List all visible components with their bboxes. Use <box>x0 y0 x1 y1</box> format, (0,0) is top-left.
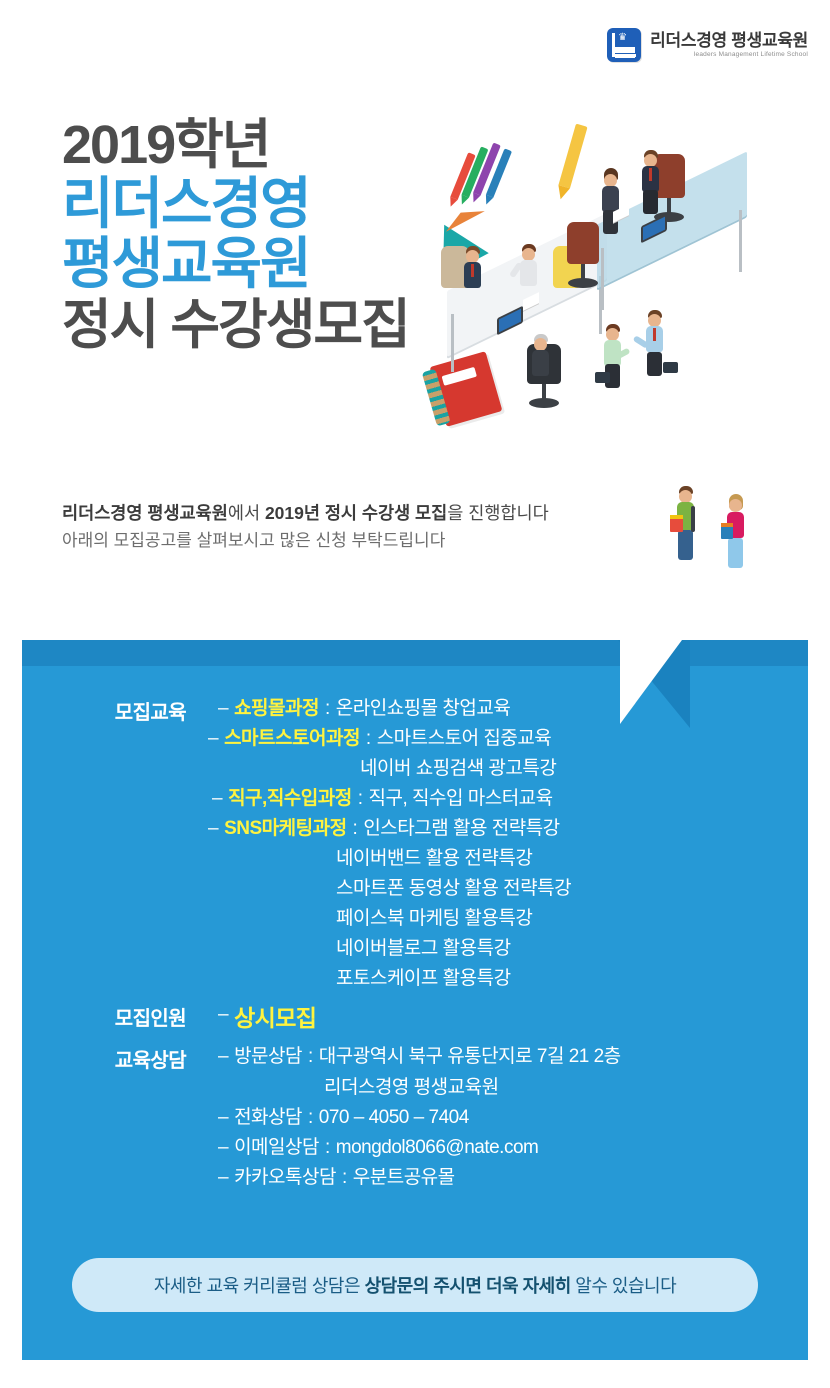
dash-marker: – <box>218 1042 228 1072</box>
leaders-crown-logo-icon: ♛ <box>607 28 641 62</box>
dash-marker: – <box>218 694 228 724</box>
contact-label: 이메일상담 <box>234 1133 319 1163</box>
course-subitem: 스마트폰 동영상 활용 전략특강 <box>208 874 808 904</box>
intro-tail: 을 진행합니다 <box>447 503 548 523</box>
info-row-quota: 모집인원 – 상시모집 <box>22 1000 808 1036</box>
course-desc: 스마트스토어 집중교육 <box>377 724 552 754</box>
contact-item-email[interactable]: – 이메일상담 : mongdol8066@nate.com <box>208 1133 808 1163</box>
course-item: – SNS마케팅과정 : 인스타그램 활용 전략특강 <box>208 814 808 844</box>
colon: : <box>325 1133 330 1163</box>
course-item: – 직구,직수입과정 : 직구, 직수입 마스터교육 <box>208 784 808 814</box>
course-name: 쇼핑몰과정 <box>234 694 319 724</box>
course-item: – 쇼핑몰과정 : 온라인쇼핑몰 창업교육 <box>208 694 808 724</box>
dash-marker: – <box>218 1133 228 1163</box>
colon: : <box>342 1163 347 1193</box>
course-subitem: 네이버블로그 활용특강 <box>208 934 808 964</box>
dash-marker: – <box>218 1103 228 1133</box>
course-name: 스마트스토어과정 <box>224 724 360 754</box>
row-label-courses: 모집교육 <box>22 694 208 725</box>
info-panel: 모집교육 – 쇼핑몰과정 : 온라인쇼핑몰 창업교육 – 스마트스토어과정 : … <box>22 640 808 1360</box>
colon: : <box>353 814 358 844</box>
info-row-contact: 교육상담 – 방문상담 : 대구광역시 북구 유통단지로 7길 21 2층 리더… <box>22 1042 808 1192</box>
contact-email[interactable]: mongdol8066@nate.com <box>336 1133 539 1163</box>
brand-text: 리더스경영 평생교육원 leaders Management Lifetime … <box>650 32 808 59</box>
course-desc: 직구, 직수입 마스터교육 <box>369 784 553 814</box>
contact-label: 전화상담 <box>234 1103 302 1133</box>
pencil-icon <box>558 124 587 189</box>
contact-list: – 방문상담 : 대구광역시 북구 유통단지로 7길 21 2층 리더스경영 평… <box>208 1042 808 1192</box>
dash-marker: – <box>208 724 218 754</box>
contact-label: 카카오톡상담 <box>234 1163 336 1193</box>
intro-line-1: 리더스경영 평생교육원에서 2019년 정시 수강생 모집을 진행합니다 <box>62 500 549 528</box>
dash-marker: – <box>212 784 222 814</box>
colon: : <box>308 1103 313 1133</box>
contact-item-visit: – 방문상담 : 대구광역시 북구 유통단지로 7길 21 2층 <box>208 1042 808 1072</box>
colon: : <box>366 724 371 754</box>
consult-text-c: 알수 있습니다 <box>571 1276 676 1296</box>
dash-marker: – <box>218 1000 228 1036</box>
students-illustration <box>672 484 782 599</box>
course-name: 직구,직수입과정 <box>228 784 352 814</box>
title-line-brand-1: 리더스경영 <box>62 176 409 232</box>
quota-body: – 상시모집 <box>208 1000 808 1036</box>
title-line-brand-2: 평생교육원 <box>62 236 409 292</box>
consult-text-a: 자세한 교육 커리큘럼 상담은 <box>154 1276 365 1296</box>
course-name: SNS마케팅과정 <box>224 814 346 844</box>
course-desc: 온라인쇼핑몰 창업교육 <box>336 694 511 724</box>
notebook-icon <box>430 351 503 427</box>
title-line-year: 2019학년 <box>62 118 409 172</box>
intro-bold-brand: 리더스경영 평생교육원 <box>62 503 228 523</box>
courses-list: – 쇼핑몰과정 : 온라인쇼핑몰 창업교육 – 스마트스토어과정 : 스마트스토… <box>208 694 808 994</box>
row-label-contact: 교육상담 <box>22 1042 208 1073</box>
brand-name-en: leaders Management Lifetime School <box>650 52 808 59</box>
header-logo: ♛ 리더스경영 평생교육원 leaders Management Lifetim… <box>607 28 808 62</box>
info-row-courses: 모집교육 – 쇼핑몰과정 : 온라인쇼핑몰 창업교육 – 스마트스토어과정 : … <box>22 694 808 994</box>
contact-phone[interactable]: 070 – 4050 – 7404 <box>319 1103 469 1133</box>
contact-item-kakao[interactable]: – 카카오톡상담 : 우분트공유몰 <box>208 1163 808 1193</box>
contact-address: 대구광역시 북구 유통단지로 7길 21 2층 <box>319 1042 621 1072</box>
consult-text-bold: 상담문의 주시면 더욱 자세히 <box>365 1276 571 1296</box>
dash-marker: – <box>208 814 218 844</box>
course-subitem: 포토스케이프 활용특강 <box>208 964 808 994</box>
contact-item-phone[interactable]: – 전화상담 : 070 – 4050 – 7404 <box>208 1103 808 1133</box>
intro-bold-recruit: 2019년 정시 수강생 모집 <box>265 503 447 523</box>
consult-banner[interactable]: 자세한 교육 커리큘럼 상담은 상담문의 주시면 더욱 자세히 알수 있습니다 <box>72 1258 758 1312</box>
intro-mid: 에서 <box>228 503 265 523</box>
contact-label: 방문상담 <box>234 1042 302 1072</box>
contact-kakao[interactable]: 우분트공유몰 <box>353 1163 455 1193</box>
quota-value: 상시모집 <box>234 1000 316 1036</box>
quota-item: – 상시모집 <box>208 1000 808 1036</box>
contact-address-line2: 리더스경영 평생교육원 <box>208 1073 808 1103</box>
course-item: – 스마트스토어과정 : 스마트스토어 집중교육 <box>208 724 808 754</box>
info-rows: 모집교육 – 쇼핑몰과정 : 온라인쇼핑몰 창업교육 – 스마트스토어과정 : … <box>22 694 808 1193</box>
course-subitem: 페이스북 마케팅 활용특강 <box>208 904 808 934</box>
dash-marker: – <box>218 1163 228 1193</box>
row-label-quota: 모집인원 <box>22 1000 208 1031</box>
colon: : <box>358 784 363 814</box>
course-subitem: 네이버밴드 활용 전략특강 <box>208 844 808 874</box>
title-line-recruit: 정시 수강생모집 <box>62 298 409 352</box>
intro-line-2: 아래의 모집공고를 살펴보시고 많은 신청 부탁드립니다 <box>62 528 549 555</box>
business-illustration <box>415 130 815 450</box>
intro-paragraph: 리더스경영 평생교육원에서 2019년 정시 수강생 모집을 진행합니다 아래의… <box>62 500 549 555</box>
course-subitem: 네이버 쇼핑검색 광고특강 <box>208 754 808 784</box>
page-title: 2019학년 리더스경영 평생교육원 정시 수강생모집 <box>62 118 409 352</box>
brand-name-kr: 리더스경영 평생교육원 <box>650 32 808 50</box>
colon: : <box>325 694 330 724</box>
colon: : <box>308 1042 313 1072</box>
course-desc: 인스타그램 활용 전략특강 <box>363 814 559 844</box>
consult-banner-text: 자세한 교육 커리큘럼 상담은 상담문의 주시면 더욱 자세히 알수 있습니다 <box>154 1272 676 1298</box>
